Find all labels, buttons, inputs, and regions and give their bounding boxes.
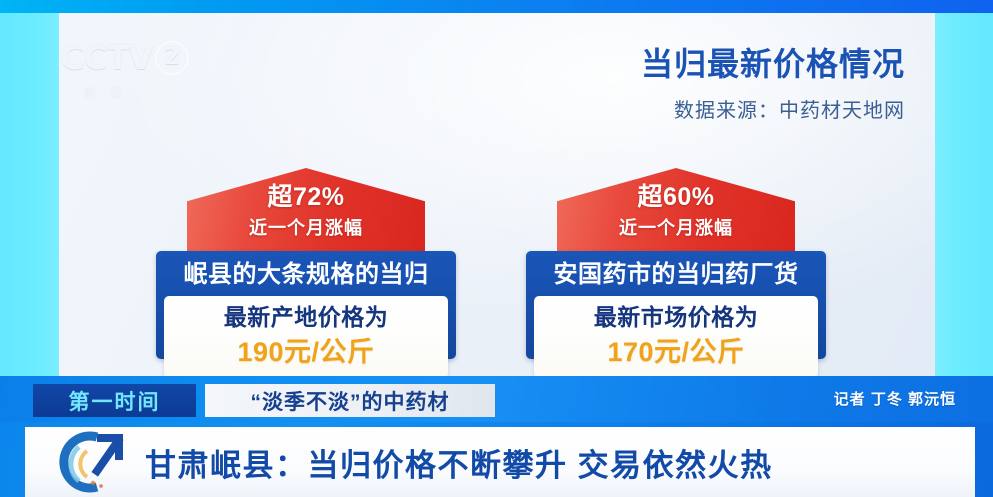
watermark-network: CCTV2 — [60, 41, 200, 75]
program-badge: 第一时间 — [33, 384, 196, 417]
up-arrow-icon: 超60% 近一个月涨幅 — [557, 168, 795, 251]
card-body: 岷县的大条规格的当归 最新产地价格为 190元/公斤 — [156, 251, 456, 359]
reporter-credit: 记者 丁冬 郭沅恒 — [834, 388, 956, 409]
arrow-text-group: 超72% 近一个月涨幅 — [187, 184, 425, 240]
arrow-text-group: 超60% 近一个月涨幅 — [557, 184, 795, 240]
graphic-title-block: 当归最新价格情况 数据来源：中药材天地网 — [641, 46, 905, 123]
infographic-stage: CCTV2 财经 当归最新价格情况 数据来源：中药材天地网 超72% 近一个月涨… — [0, 13, 993, 376]
card-price-label: 最新产地价格为 — [164, 303, 448, 332]
arrow-caption: 近一个月涨幅 — [557, 214, 795, 240]
arrow-percent: 超60% — [557, 184, 795, 210]
card-panel: 最新产地价格为 190元/公斤 — [164, 296, 448, 376]
card-price-value: 190元/公斤 — [164, 336, 448, 368]
headline-text: 甘肃岷县：当归价格不断攀升 交易依然火热 — [145, 440, 773, 485]
watermark-channel-number: 2 — [155, 41, 189, 75]
broadcast-screenshot: CCTV2 财经 当归最新价格情况 数据来源：中药材天地网 超72% 近一个月涨… — [0, 0, 993, 497]
arc-arrow-logo-icon — [57, 431, 129, 493]
arrow-caption: 近一个月涨幅 — [187, 214, 425, 240]
right-cyan-band — [935, 13, 993, 376]
top-blue-strip — [0, 0, 993, 13]
left-cyan-band — [0, 13, 59, 376]
arrow-percent: 超72% — [187, 184, 425, 210]
card-heading: 安国药市的当归药厂货 — [526, 256, 826, 296]
card-body: 安国药市的当归药厂货 最新市场价格为 170元/公斤 — [526, 251, 826, 359]
price-card-anguo: 超60% 近一个月涨幅 安国药市的当归药厂货 最新市场价格为 170元/公斤 — [526, 168, 826, 359]
headline-panel: 甘肃岷县：当归价格不断攀升 交易依然火热 — [25, 427, 975, 497]
card-panel: 最新市场价格为 170元/公斤 — [534, 296, 818, 376]
topic-label: “淡季不淡”的中药材 — [205, 384, 495, 417]
cctv-watermark-logo: CCTV2 财经 — [60, 41, 200, 113]
graphic-title: 当归最新价格情况 — [641, 46, 905, 83]
up-arrow-icon: 超72% 近一个月涨幅 — [187, 168, 425, 251]
watermark-channel-name: 财经 — [84, 84, 200, 101]
headline-bar: 甘肃岷县：当归价格不断攀升 交易依然火热 — [0, 422, 993, 497]
price-card-mindu: 超72% 近一个月涨幅 岷县的大条规格的当归 最新产地价格为 190元/公斤 — [156, 168, 456, 359]
graphic-source: 数据来源：中药材天地网 — [641, 94, 905, 123]
watermark-network-label: CCTV — [60, 38, 153, 77]
card-price-label: 最新市场价格为 — [534, 303, 818, 332]
lower-third-bar: 第一时间 “淡季不淡”的中药材 记者 丁冬 郭沅恒 — [0, 376, 993, 422]
card-price-value: 170元/公斤 — [534, 336, 818, 368]
card-heading: 岷县的大条规格的当归 — [156, 256, 456, 296]
